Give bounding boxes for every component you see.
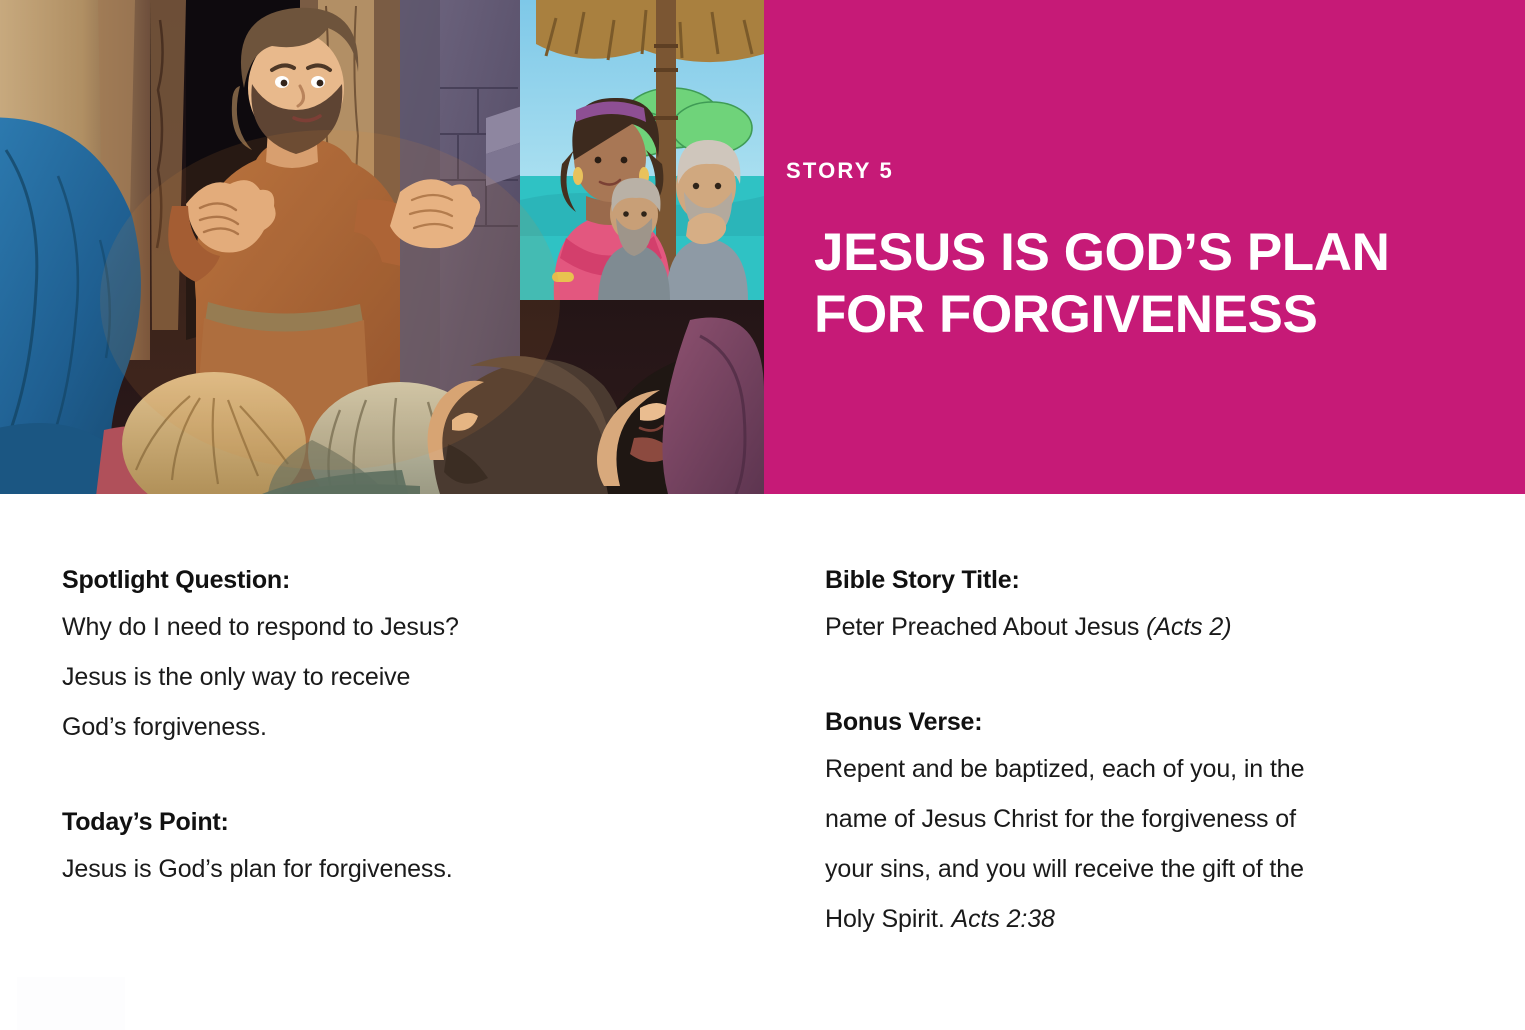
bonus-verse-line-4: Holy Spirit. Acts 2:38: [825, 894, 1475, 944]
corner-watermark: [17, 977, 125, 1030]
spotlight-question-line-1: Why do I need to respond to Jesus?: [62, 602, 762, 652]
bonus-verse-block: Bonus Verse: Repent and be baptized, eac…: [825, 700, 1475, 944]
left-content-column: Spotlight Question: Why do I need to res…: [62, 494, 762, 894]
illustration-artwork: [0, 0, 764, 494]
spotlight-question-block: Spotlight Question: Why do I need to res…: [62, 494, 762, 752]
todays-point-line-1: Jesus is God’s plan for forgiveness.: [62, 844, 762, 894]
bible-story-title-block: Bible Story Title: Peter Preached About …: [825, 494, 1475, 652]
right-content-column: Bible Story Title: Peter Preached About …: [825, 494, 1475, 944]
bible-story-title-text: Peter Preached About Jesus: [825, 613, 1146, 641]
bonus-verse-line-1: Repent and be baptized, each of you, in …: [825, 744, 1475, 794]
spotlight-question-line-2: Jesus is the only way to receive: [62, 652, 762, 702]
bonus-verse-line-2: name of Jesus Christ for the forgiveness…: [825, 794, 1475, 844]
story-number-label: STORY 5: [786, 158, 894, 184]
story-title: JESUS IS GOD’S PLAN FOR FORGIVENESS: [814, 222, 1504, 346]
left-column-spacer: [62, 752, 762, 800]
todays-point-block: Today’s Point: Jesus is God’s plan for f…: [62, 800, 762, 894]
bible-story-title-value: Peter Preached About Jesus (Acts 2): [825, 602, 1475, 652]
bonus-verse-label: Bonus Verse:: [825, 700, 1475, 744]
spotlight-question-line-3: God’s forgiveness.: [62, 702, 762, 752]
header-band: STORY 5 JESUS IS GOD’S PLAN FOR FORGIVEN…: [0, 0, 1525, 494]
bonus-verse-reference: Acts 2:38: [952, 905, 1055, 933]
todays-point-label: Today’s Point:: [62, 800, 762, 844]
bible-story-title-label: Bible Story Title:: [825, 558, 1475, 602]
body-content-area: Spotlight Question: Why do I need to res…: [0, 494, 1525, 1030]
title-panel: STORY 5 JESUS IS GOD’S PLAN FOR FORGIVEN…: [764, 0, 1525, 494]
bible-story-illustration: [0, 0, 764, 494]
bible-story-title-reference: (Acts 2): [1146, 613, 1231, 641]
bonus-verse-line-3: your sins, and you will receive the gift…: [825, 844, 1475, 894]
bonus-verse-last-text: Holy Spirit.: [825, 905, 952, 933]
spotlight-question-label: Spotlight Question:: [62, 558, 762, 602]
right-column-spacer: [825, 652, 1475, 700]
story-card-page: STORY 5 JESUS IS GOD’S PLAN FOR FORGIVEN…: [0, 0, 1525, 1030]
